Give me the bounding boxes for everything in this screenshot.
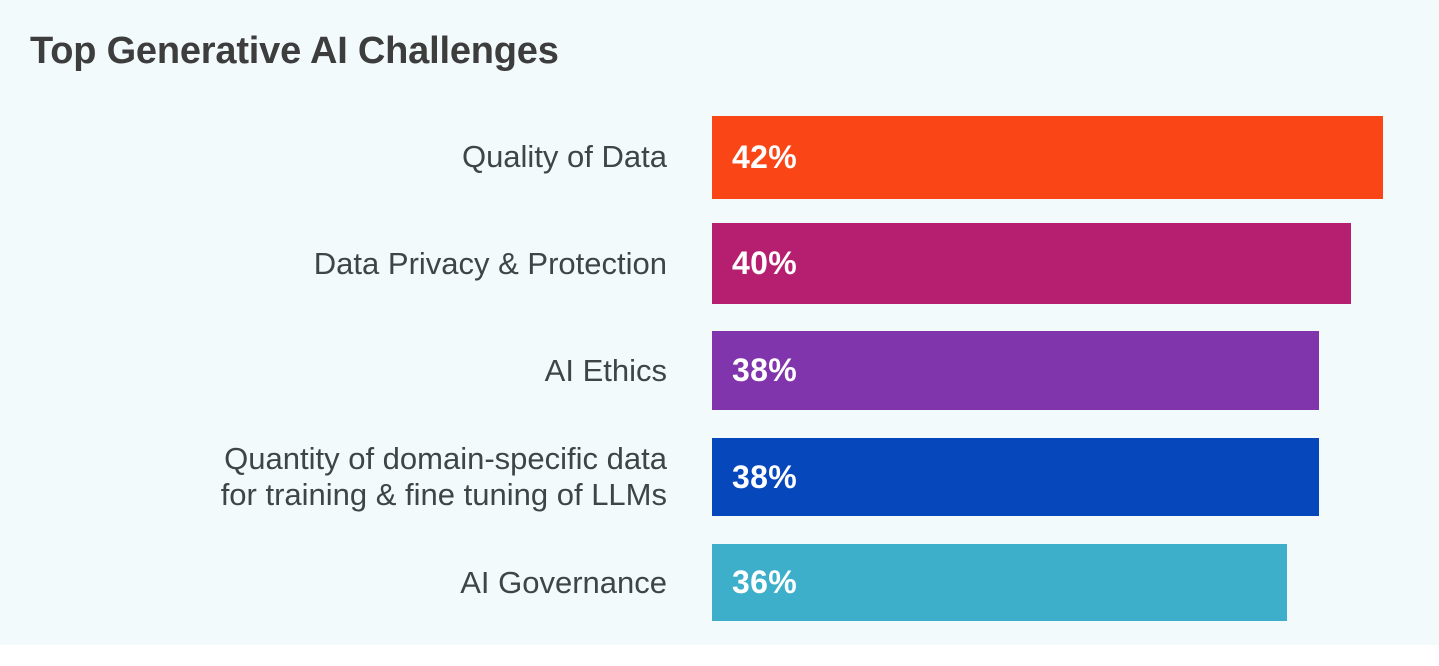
bar-row: Quality of Data 42% <box>0 104 1439 210</box>
bar-category-label: AI Governance <box>0 565 667 601</box>
bar-ai-ethics[interactable]: 38% <box>712 331 1319 410</box>
bar-track: 36% <box>667 530 1439 635</box>
bar-category-label: Quality of Data <box>0 139 667 175</box>
bar-row: AI Ethics 38% <box>0 317 1439 424</box>
bar-quantity-of-domain-specific-data[interactable]: 38% <box>712 438 1319 516</box>
bar-row: Data Privacy & Protection 40% <box>0 210 1439 317</box>
bar-quality-of-data[interactable]: 42% <box>712 116 1383 199</box>
bar-value-label: 42% <box>712 139 797 176</box>
bar-value-label: 40% <box>712 245 797 282</box>
bar-chart-plot-area: Quality of Data 42% Data Privacy & Prote… <box>0 104 1439 635</box>
bar-value-label: 36% <box>712 564 797 601</box>
chart-footer-strip <box>0 645 1439 666</box>
bar-track: 38% <box>667 424 1439 530</box>
page-title: Top Generative AI Challenges <box>30 30 559 73</box>
bar-row: Quantity of domain-specific data for tra… <box>0 424 1439 530</box>
bar-value-label: 38% <box>712 459 797 496</box>
bar-ai-governance[interactable]: 36% <box>712 544 1287 621</box>
bar-track: 40% <box>667 210 1439 317</box>
chart-canvas: Top Generative AI Challenges Quality of … <box>0 0 1439 645</box>
bar-category-label: Data Privacy & Protection <box>0 246 667 282</box>
bar-row: AI Governance 36% <box>0 530 1439 635</box>
bar-data-privacy-and-protection[interactable]: 40% <box>712 223 1351 304</box>
bar-value-label: 38% <box>712 352 797 389</box>
bar-track: 38% <box>667 317 1439 424</box>
bar-category-label: AI Ethics <box>0 353 667 389</box>
bar-track: 42% <box>667 104 1439 210</box>
bar-category-label: Quantity of domain-specific data for tra… <box>0 441 667 512</box>
